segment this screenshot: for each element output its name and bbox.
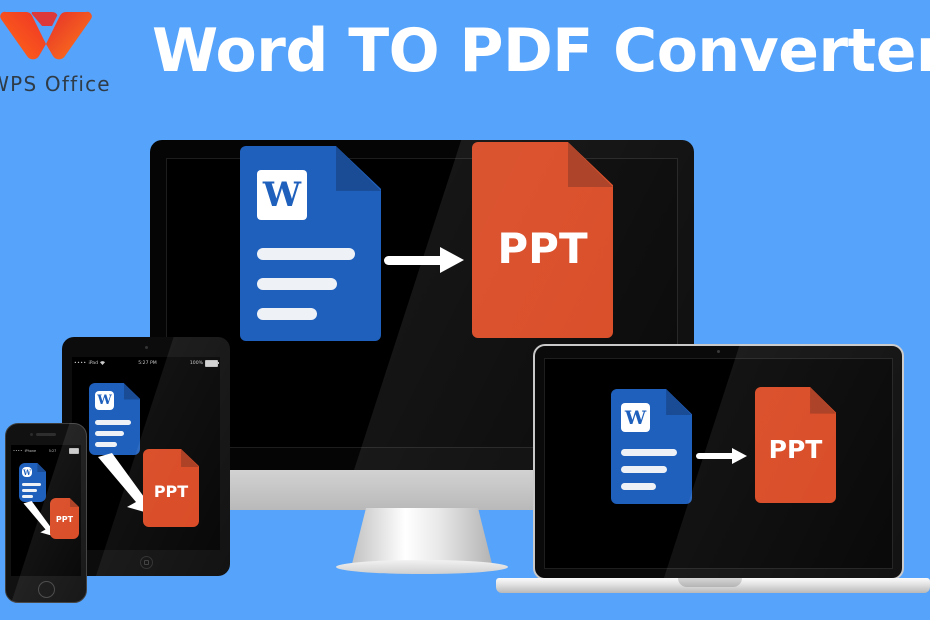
- signal-dots-icon: ••••: [74, 361, 86, 366]
- monitor-stand-base: [336, 560, 508, 574]
- word-text-line: [95, 442, 117, 447]
- tablet-camera-icon: [145, 346, 148, 349]
- ppt-label: PPT: [50, 515, 79, 524]
- smartphone: •••• iPhone 5:27 W PPT: [5, 423, 87, 603]
- page-title: Word TO PDF Converter: [152, 12, 930, 90]
- laptop-camera-icon: [717, 350, 720, 353]
- word-text-line: [95, 420, 131, 425]
- tablet: •••• iPad 5:27 PM 100% W: [62, 337, 230, 576]
- carrier-label: iPhone: [25, 449, 36, 453]
- word-document-icon: W: [19, 463, 46, 502]
- poster-canvas: WPS Office Word TO PDF Converter W PPT: [0, 0, 930, 620]
- signal-dots-icon: ••••: [13, 449, 23, 453]
- battery-full-icon: [205, 360, 218, 367]
- phone-camera-icon: [30, 433, 33, 436]
- carrier-label: iPad: [88, 361, 98, 366]
- word-text-line: [257, 278, 337, 290]
- wps-office-logo-icon: [0, 6, 94, 74]
- word-text-line: [22, 489, 37, 492]
- phone-speaker-icon: [36, 433, 56, 436]
- conversion-arrow-icon: [696, 448, 752, 464]
- clock-label: 5:27 PM: [138, 361, 157, 366]
- word-letter-badge: W: [95, 391, 114, 410]
- battery-percent-label: 100%: [190, 361, 203, 366]
- word-document-icon: W: [89, 383, 140, 455]
- phone-home-button[interactable]: [38, 581, 55, 598]
- ppt-document-icon: PPT: [143, 449, 199, 527]
- word-document-icon: W: [611, 389, 692, 504]
- phone-status-bar: •••• iPhone 5:27: [13, 447, 79, 454]
- clock-label: 5:27: [49, 449, 57, 453]
- word-text-line: [95, 431, 124, 436]
- word-letter-badge: W: [257, 170, 307, 220]
- word-document-icon: W: [240, 146, 381, 341]
- word-text-line: [257, 308, 317, 320]
- conversion-arrow-icon: [384, 247, 469, 273]
- ppt-label: PPT: [143, 482, 199, 501]
- word-text-line: [22, 495, 33, 498]
- ppt-document-icon: PPT: [472, 142, 613, 338]
- word-text-line: [621, 466, 667, 473]
- word-letter-badge: W: [22, 467, 32, 477]
- ppt-label: PPT: [472, 224, 613, 273]
- battery-full-icon: [69, 448, 79, 454]
- brand-logo: WPS Office: [0, 6, 114, 104]
- brand-name: WPS Office: [0, 72, 114, 96]
- ppt-label: PPT: [755, 435, 836, 464]
- ppt-document-icon: PPT: [755, 387, 836, 503]
- monitor-stand-neck: [352, 508, 492, 564]
- word-text-line: [257, 248, 355, 260]
- word-text-line: [22, 483, 41, 486]
- ppt-document-icon: PPT: [50, 498, 79, 539]
- tablet-home-button[interactable]: [140, 556, 153, 569]
- word-text-line: [621, 483, 656, 490]
- laptop: W PPT: [533, 344, 904, 580]
- header: WPS Office Word TO PDF Converter: [0, 0, 930, 110]
- word-letter-badge: W: [621, 403, 650, 432]
- wifi-icon: [100, 361, 105, 367]
- word-text-line: [621, 449, 677, 456]
- tablet-status-bar: •••• iPad 5:27 PM 100%: [74, 359, 218, 368]
- laptop-base-notch: [678, 578, 742, 587]
